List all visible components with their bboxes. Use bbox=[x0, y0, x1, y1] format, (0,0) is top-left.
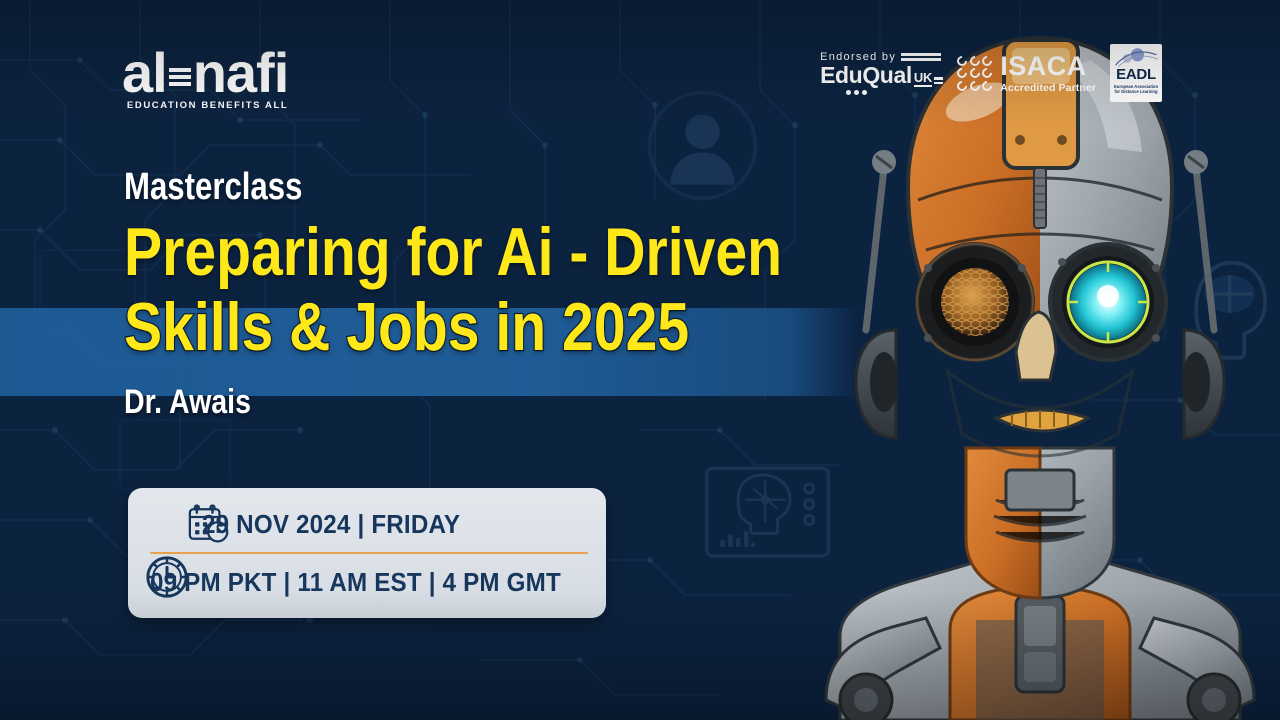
brand-logo[interactable]: al nafi EDUCATION BENEFITS ALL bbox=[122, 46, 288, 111]
logo-wordmark: al nafi bbox=[122, 46, 288, 99]
eduqual-bars-icon bbox=[901, 53, 941, 61]
event-info-card: 29 NOV 2024 | FRIDAY 09 PM PKT | 11 AM E… bbox=[128, 488, 606, 618]
isaca-text: ISACA Accredited Partner bbox=[1000, 53, 1096, 94]
isaca-subtitle: Accredited Partner bbox=[1000, 83, 1096, 94]
title-line-2: Skills & Jobs in 2025 bbox=[124, 293, 782, 362]
event-date-text: 29 NOV 2024 | FRIDAY bbox=[202, 509, 460, 540]
title-line-1: Preparing for Ai - Driven bbox=[124, 218, 782, 287]
logo-text-al: al bbox=[122, 46, 167, 99]
eadl-subtitle: European Association for Distance Learni… bbox=[1112, 84, 1160, 95]
webinar-poster: al nafi EDUCATION BENEFITS ALL Endorsed … bbox=[0, 0, 1280, 720]
eduqual-equal-icon bbox=[934, 77, 943, 87]
eduqual-name-row: EduQual UK bbox=[820, 64, 943, 87]
badge-isaca: ISACA Accredited Partner bbox=[957, 53, 1096, 94]
headline-block: Masterclass Preparing for Ai - Driven Sk… bbox=[124, 168, 907, 419]
masterclass-kicker: Masterclass bbox=[124, 168, 766, 206]
event-date-row: 29 NOV 2024 | FRIDAY bbox=[202, 502, 588, 546]
card-divider bbox=[150, 552, 588, 554]
logo-bars-icon bbox=[169, 68, 191, 86]
logo-text-nafi: nafi bbox=[193, 46, 289, 99]
eadl-emblem-icon bbox=[1114, 47, 1158, 67]
speaker-name: Dr. Awais bbox=[124, 385, 782, 419]
accreditation-badges: Endorsed by EduQual UK ISACA Accredited … bbox=[820, 44, 1162, 102]
badge-eduqual: Endorsed by EduQual UK bbox=[820, 51, 943, 95]
eadl-name: EADL bbox=[1116, 67, 1156, 82]
logo-tagline: EDUCATION BENEFITS ALL bbox=[122, 100, 288, 111]
event-time-text: 09 PM PKT | 11 AM EST | 4 PM GMT bbox=[150, 567, 561, 598]
page-title: Preparing for Ai - Driven Skills & Jobs … bbox=[124, 218, 907, 363]
isaca-name: ISACA bbox=[1000, 53, 1096, 80]
eduqual-name: EduQual bbox=[820, 64, 912, 87]
event-time-row: 09 PM PKT | 11 AM EST | 4 PM GMT bbox=[202, 560, 588, 604]
eduqual-region: UK bbox=[914, 71, 932, 87]
isaca-logo-icon bbox=[957, 56, 992, 91]
badge-eadl: EADL European Association for Distance L… bbox=[1110, 44, 1162, 102]
eduqual-dots-icon bbox=[846, 90, 943, 95]
